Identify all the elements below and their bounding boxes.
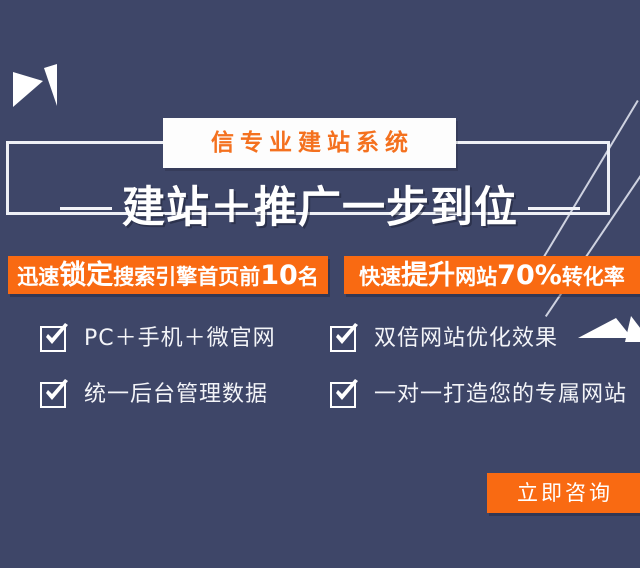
feature-label: 统一后台管理数据 [84,384,268,406]
ranking-promo-banner: 迅速锁定搜索引擎首页前10名 [8,256,328,294]
headline-rule-left [60,207,112,210]
conversion-promo-banner: 快速提升网站70%转化率 [344,256,640,294]
paper-plane-top-left-tail-icon [44,64,57,106]
checkbox-checked-icon [330,382,356,408]
paper-plane-top-left-icon [13,72,43,107]
promo-segment: 10 [260,260,298,291]
promo-segment: 网站 [455,265,497,289]
feature-item: PC＋手机＋微官网 [40,326,276,352]
badge: 信专业建站系统 [163,118,456,168]
consult-now-button[interactable]: 立即咨询 [487,473,640,513]
page-title: 建站＋推广一步到位 [122,187,518,230]
feature-label: PC＋手机＋微官网 [84,328,276,350]
promo-segment: 锁定 [59,260,113,291]
feature-item: 双倍网站优化效果 [330,326,558,352]
checkbox-checked-icon [40,326,66,352]
promo-segment: 迅速 [17,265,59,289]
conversion-promo-text: 快速提升网站70%转化率 [359,262,625,289]
ranking-promo-text: 迅速锁定搜索引擎首页前10名 [17,262,319,289]
feature-item: 统一后台管理数据 [40,382,268,408]
headline-row: 建站＋推广一步到位 [0,178,640,238]
promo-segment: 快速 [359,265,401,289]
promo-segment: 提升 [401,260,455,291]
feature-label: 一对一打造您的专属网站 [374,384,627,406]
checkbox-checked-icon [40,382,66,408]
feature-label: 双倍网站优化效果 [374,328,558,350]
consult-now-label: 立即咨询 [514,483,613,504]
promo-segment: 70% [497,260,562,291]
promo-segment: 转化率 [562,265,625,289]
checkbox-checked-icon [330,326,356,352]
badge-text: 信专业建站系统 [205,132,414,155]
promo-segment: 名 [298,265,319,289]
feature-item: 一对一打造您的专属网站 [330,382,627,408]
headline-rule-right [528,207,580,210]
promo-banner: 信专业建站系统 建站＋推广一步到位 迅速锁定搜索引擎首页前10名 快速提升网站7… [0,0,640,568]
promo-segment: 搜索引擎首页前 [113,265,260,289]
feature-list: PC＋手机＋微官网 双倍网站优化效果 统一后台管理数据 [0,326,640,436]
